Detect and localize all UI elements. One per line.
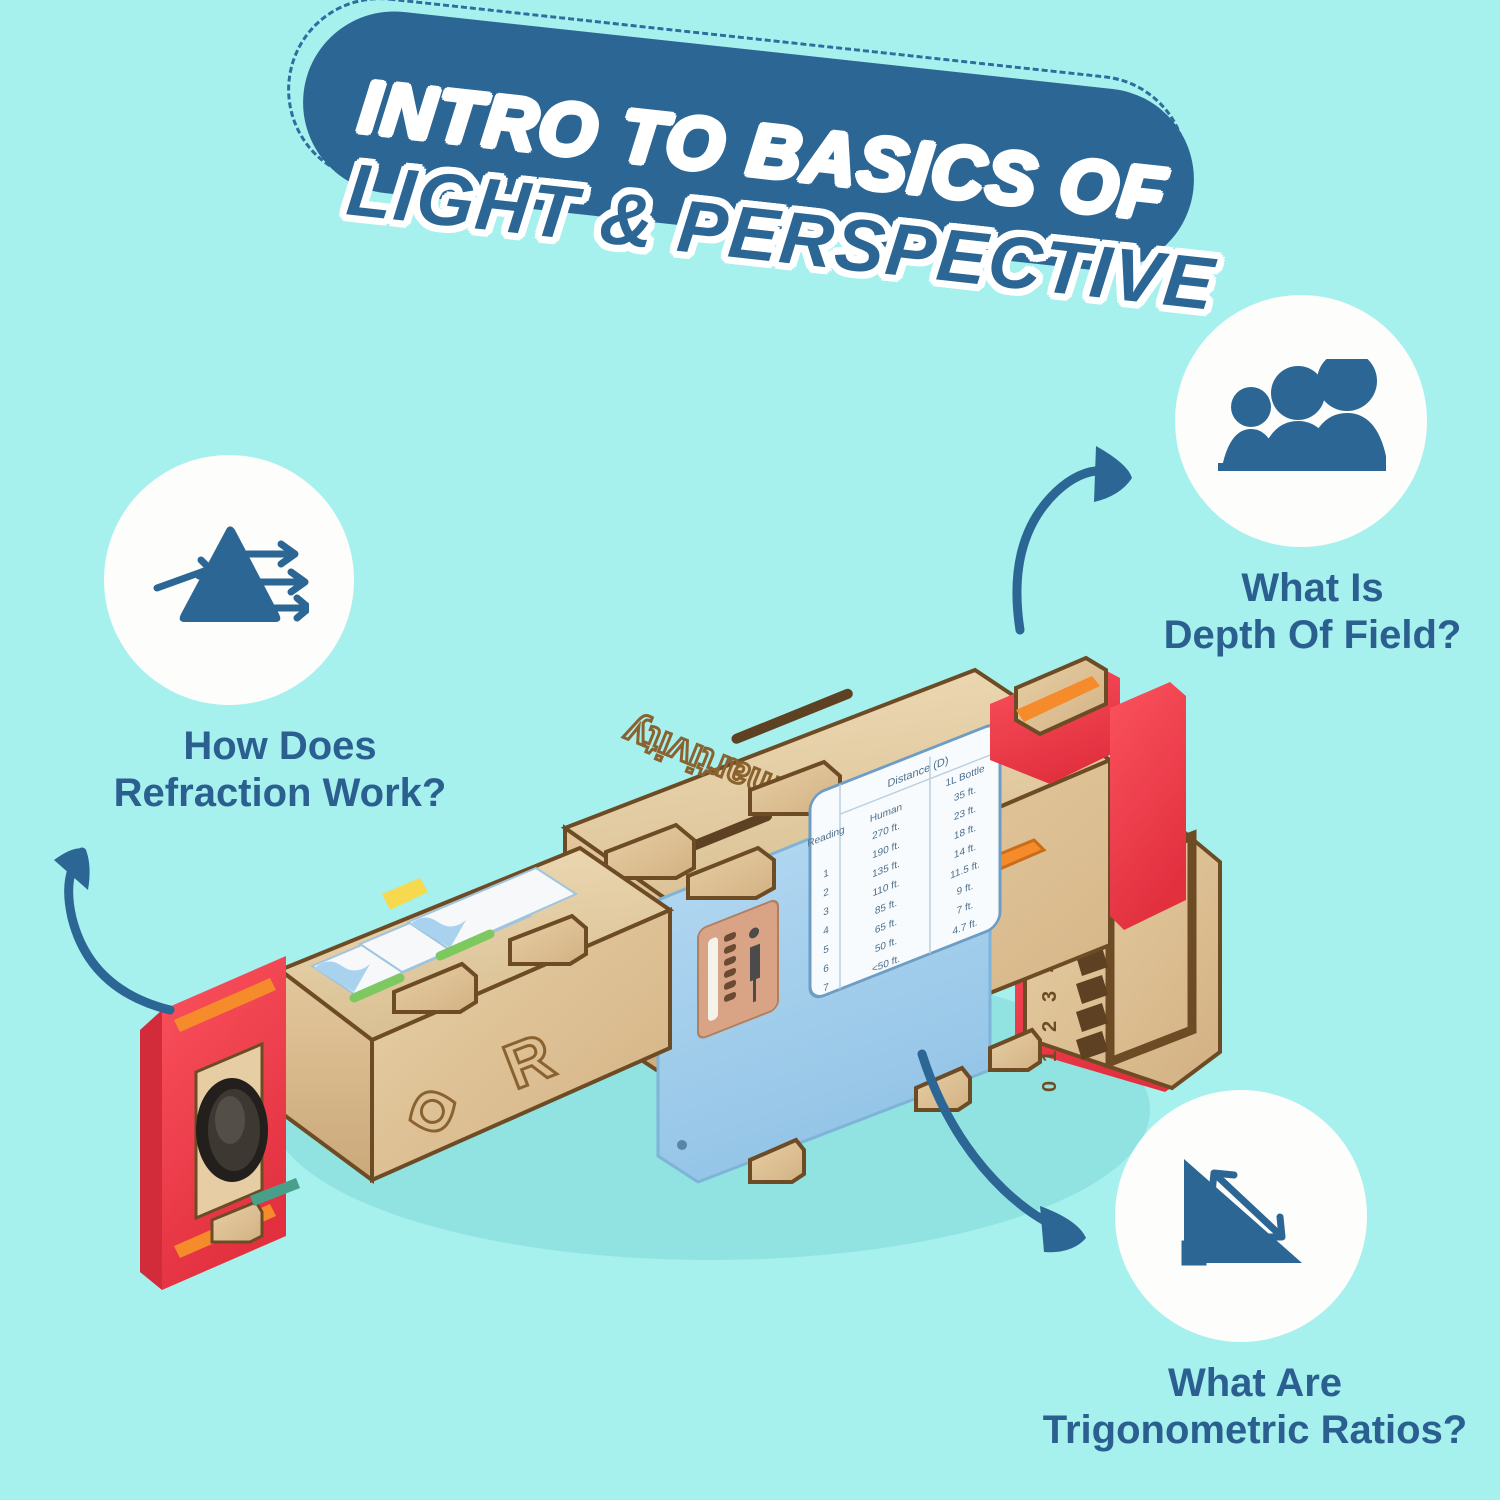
refraction-icon-circle — [104, 455, 354, 705]
page-title: INTRO TO BASICS OF LIGHT & PERSPECTIVE — [285, 28, 1215, 298]
scale-digit: 3 — [1039, 991, 1061, 1002]
refraction-label: How Does Refraction Work? — [70, 723, 490, 817]
feature-depth-of-field: What Is Depth Of Field? — [1125, 295, 1500, 659]
trigonometric-ratios-label: What Are Trigonometric Ratios? — [1010, 1360, 1500, 1454]
feature-refraction: How Does Refraction Work? — [70, 455, 490, 817]
feature-trigonometric-ratios: What Are Trigonometric Ratios? — [1010, 1090, 1500, 1454]
scale-digit: 2 — [1039, 1021, 1061, 1032]
arrow-to-refraction — [30, 820, 250, 1020]
depth-of-field-label: What Is Depth Of Field? — [1125, 565, 1500, 659]
prism-refraction-icon — [149, 510, 309, 650]
right-triangle-icon — [1166, 1151, 1316, 1281]
trig-icon-circle — [1115, 1090, 1367, 1342]
depth-icon-circle — [1175, 295, 1427, 547]
people-depth-icon — [1216, 359, 1386, 484]
